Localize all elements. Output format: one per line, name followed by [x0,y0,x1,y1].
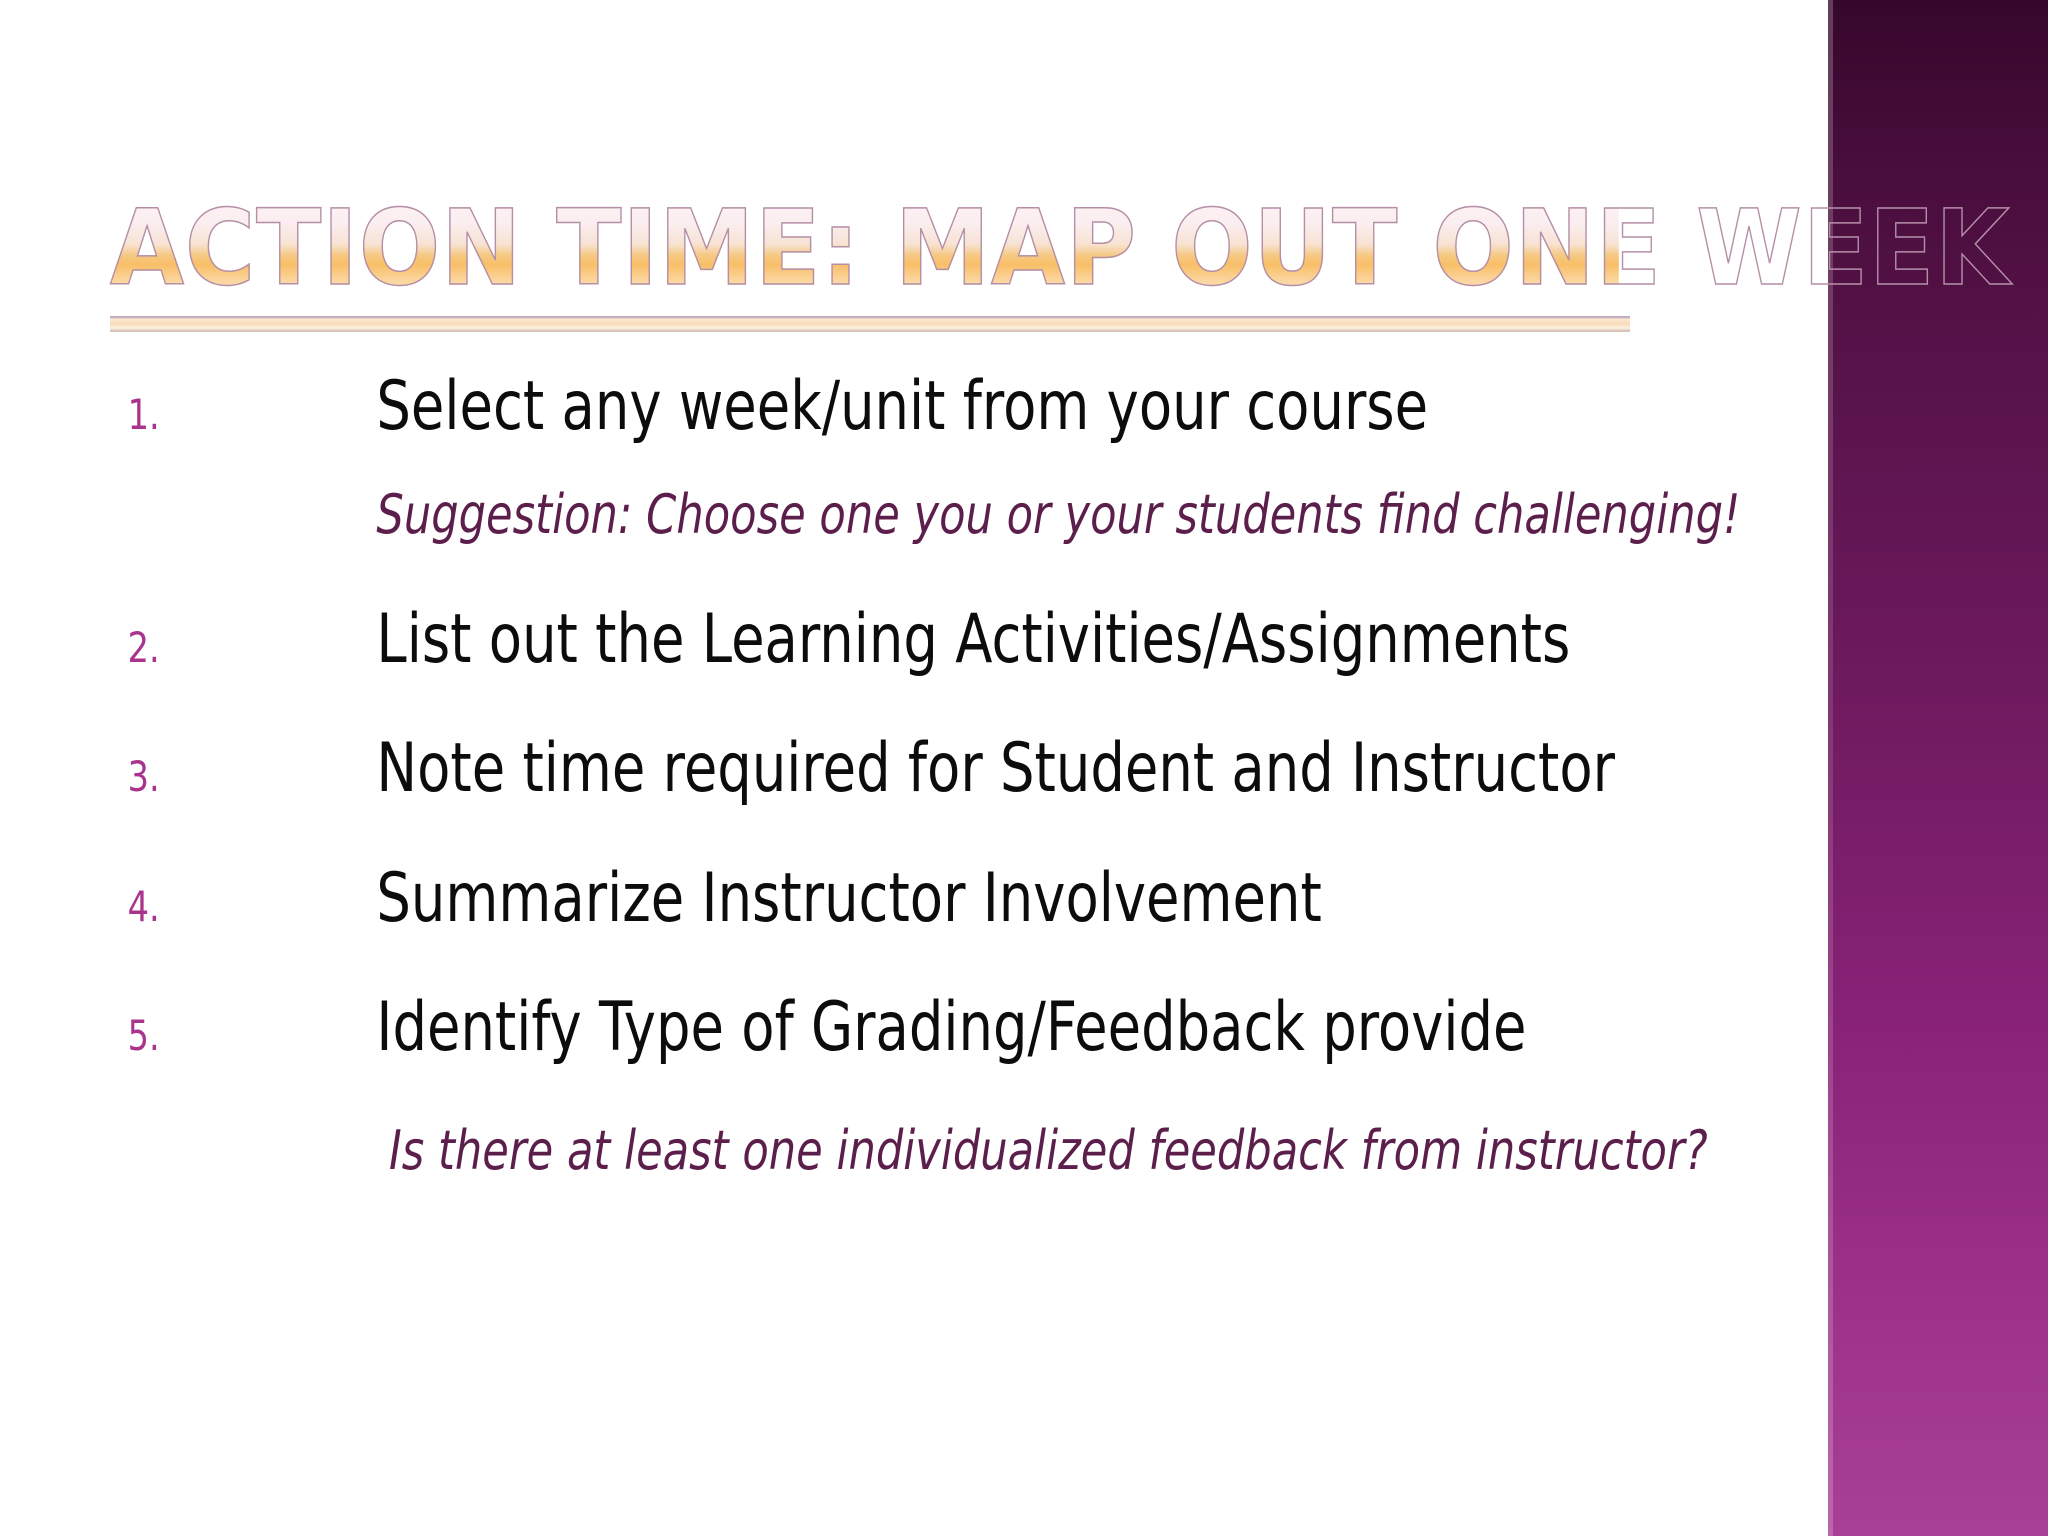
feedback-question-note: Is there at least one individualized fee… [389,1121,1677,1180]
list-item-number: 1. [128,390,205,439]
list-item: 3. Note time required for Student and In… [118,732,1838,805]
list-item-label: Identify Type of Grading/Feedback provid… [376,991,1675,1064]
slide-canvas: Action Time: Map Out One Week 1. Select … [0,0,2048,1536]
list-item: 4. Summarize Instructor Involvement [118,862,1838,935]
list-item-number: 5. [128,1011,205,1060]
list-item: 2. List out the Learning Activities/Assi… [118,603,1838,676]
list-item-label: List out the Learning Activities/Assignm… [376,603,1675,676]
list-item-number: 2. [128,623,205,672]
list-item: 5. Identify Type of Grading/Feedback pro… [118,991,1838,1064]
title-underline-rule [110,316,1630,332]
list-item-label: Summarize Instructor Involvement [376,862,1675,935]
title-block: Action Time: Map Out One Week [110,196,1750,332]
list-item-label: Note time required for Student and Instr… [376,732,1675,805]
suggestion-note: Suggestion: Choose one you or your stude… [376,485,1675,544]
numbered-list: 1. Select any week/unit from your course… [118,370,1838,1238]
list-item-number: 4. [128,882,205,931]
list-item-label: Select any week/unit from your course [376,370,1675,443]
list-item: 1. Select any week/unit from your course [118,370,1838,443]
list-item-number: 3. [128,752,205,801]
page-title: Action Time: Map Out One Week [110,196,1619,300]
